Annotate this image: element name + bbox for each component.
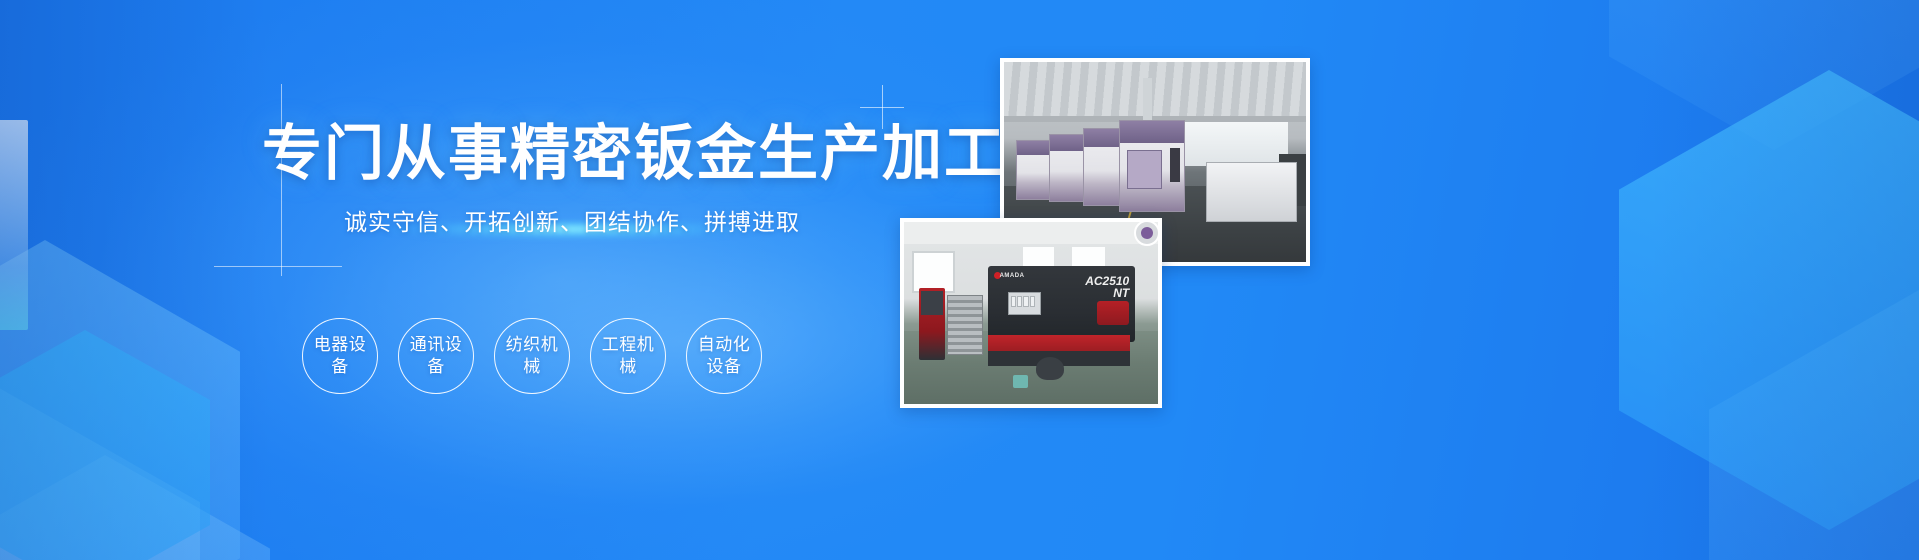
press-window-pane-2	[1017, 296, 1022, 308]
cnc-machine-4-panel	[1170, 148, 1180, 182]
factory-photo-punch-inner: AMADA AC2510 NT	[904, 222, 1158, 404]
plus-stroke-horizontal	[860, 107, 904, 108]
floor-bucket	[1013, 375, 1028, 388]
workshop-window	[1185, 122, 1288, 166]
category-circle-electrical[interactable]: 电器设备	[302, 318, 378, 394]
cnc-machine-4-top	[1120, 121, 1184, 143]
press-motor-unit	[1036, 357, 1064, 381]
machine-model-suffix: NT	[1113, 286, 1129, 300]
category-circle-communication[interactable]: 通讯设备	[398, 318, 474, 394]
punch-press-scene: AMADA AC2510 NT	[904, 222, 1158, 404]
category-label-automation: 自动化设备	[695, 334, 753, 378]
workshop-ceiling	[1004, 62, 1306, 122]
cnc-machine-4-window	[1127, 150, 1162, 190]
punch-workshop-window-left	[912, 251, 955, 293]
material-rack	[947, 295, 983, 355]
press-window-pane-4	[1030, 296, 1035, 308]
amada-brand-label: AMADA	[1000, 273, 1025, 279]
photo-corner-badge	[1134, 222, 1158, 246]
category-label-textile: 纺织机械	[503, 334, 561, 378]
category-label-electrical: 电器设备	[311, 334, 369, 378]
banner-subtitle: 诚实守信、开拓创新、团结协作、拼搏进取	[262, 205, 882, 239]
operator-console-screen	[921, 291, 943, 315]
punch-workshop-ceiling	[904, 222, 1158, 244]
category-label-engineering: 工程机械	[599, 334, 657, 378]
category-circle-engineering[interactable]: 工程机械	[590, 318, 666, 394]
category-label-communication: 通讯设备	[407, 334, 465, 378]
punch-workshop-window-right	[1072, 247, 1105, 267]
cnc-machine-4	[1119, 120, 1185, 212]
category-circle-automation[interactable]: 自动化设备	[686, 318, 762, 394]
category-circle-textile[interactable]: 纺织机械	[494, 318, 570, 394]
horizontal-line-ornament	[214, 266, 342, 267]
banner-headline: 专门从事精密钣金生产加工	[262, 118, 882, 190]
press-window-pane-3	[1023, 296, 1028, 308]
machine-model-label: AC2510 NT	[1085, 275, 1129, 299]
promo-banner: 专门从事精密钣金生产加工 诚实守信、开拓创新、团结协作、拼搏进取 电器设备 通讯…	[0, 0, 1919, 560]
cnc-machine-right	[1206, 162, 1297, 222]
press-window-pane-1	[1011, 296, 1016, 308]
press-red-housing	[1097, 301, 1129, 325]
press-control-window	[1008, 292, 1040, 315]
punch-workshop-window-mid	[1023, 247, 1053, 267]
amada-punch-press-body: AMADA AC2510 NT	[988, 266, 1135, 342]
factory-photo-punch-press: AMADA AC2510 NT	[900, 218, 1162, 408]
category-circle-list: 电器设备 通讯设备 纺织机械 工程机械 自动化设备	[302, 318, 762, 394]
